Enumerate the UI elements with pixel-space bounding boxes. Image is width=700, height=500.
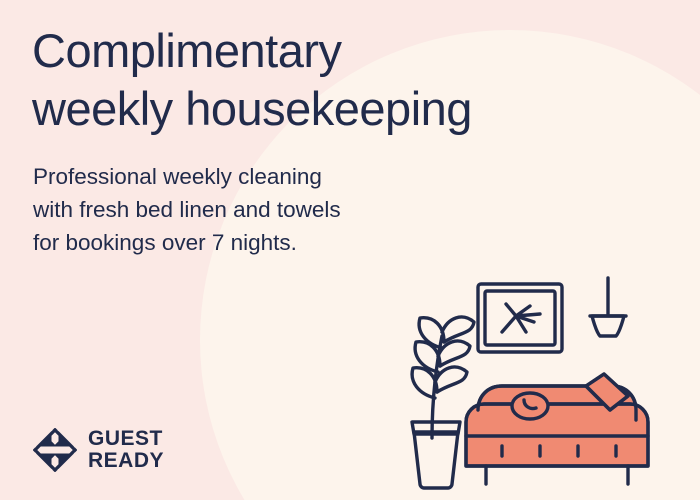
headline: Complimentary weekly housekeeping — [32, 22, 632, 138]
subheadline-line-3: for bookings over 7 nights. — [33, 226, 453, 259]
subheadline-line-1: Professional weekly cleaning — [33, 160, 453, 193]
guestready-logo-text: GUEST READY — [88, 428, 164, 472]
subheadline: Professional weekly cleaning with fresh … — [33, 160, 453, 259]
subheadline-line-2: with fresh bed linen and towels — [33, 193, 453, 226]
floor-lamp-icon — [590, 278, 626, 336]
headline-line-2: weekly housekeeping — [32, 80, 632, 138]
logo-text-line-2: READY — [88, 450, 164, 472]
guestready-logo: GUEST READY — [33, 428, 164, 472]
headline-line-1: Complimentary — [32, 24, 342, 77]
framed-picture-icon — [478, 284, 562, 352]
guestready-logo-mark-icon — [33, 428, 77, 472]
promo-card: Complimentary weekly housekeeping Profes… — [0, 0, 700, 500]
card-content: Complimentary weekly housekeeping Profes… — [0, 0, 700, 500]
logo-text-line-1: GUEST — [88, 428, 164, 450]
sofa-icon — [466, 374, 648, 484]
living-room-illustration — [390, 270, 690, 500]
